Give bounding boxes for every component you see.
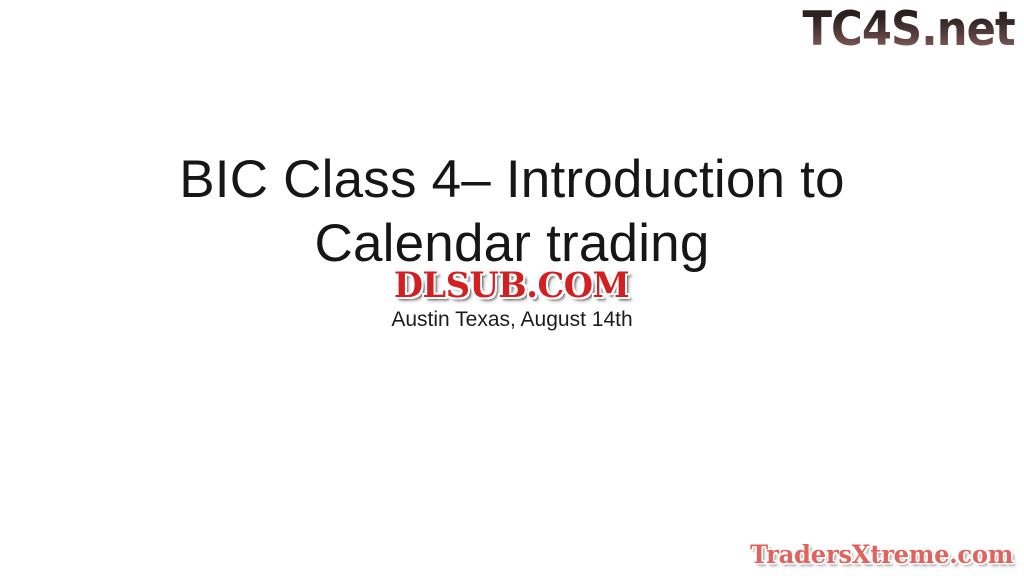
title-line-2: Calendar trading [112, 212, 912, 276]
presentation-slide: TC4S.net BIC Class 4– Introduction to Ca… [0, 0, 1024, 576]
slide-title: BIC Class 4– Introduction to Calendar tr… [112, 148, 912, 276]
title-line-1: BIC Class 4– Introduction to [112, 148, 912, 212]
tc4s-watermark: TC4S.net [803, 2, 1015, 58]
tradersxtreme-watermark: TradersXtreme.com [750, 540, 1013, 570]
slide-subtitle: Austin Texas, August 14th [112, 306, 912, 334]
